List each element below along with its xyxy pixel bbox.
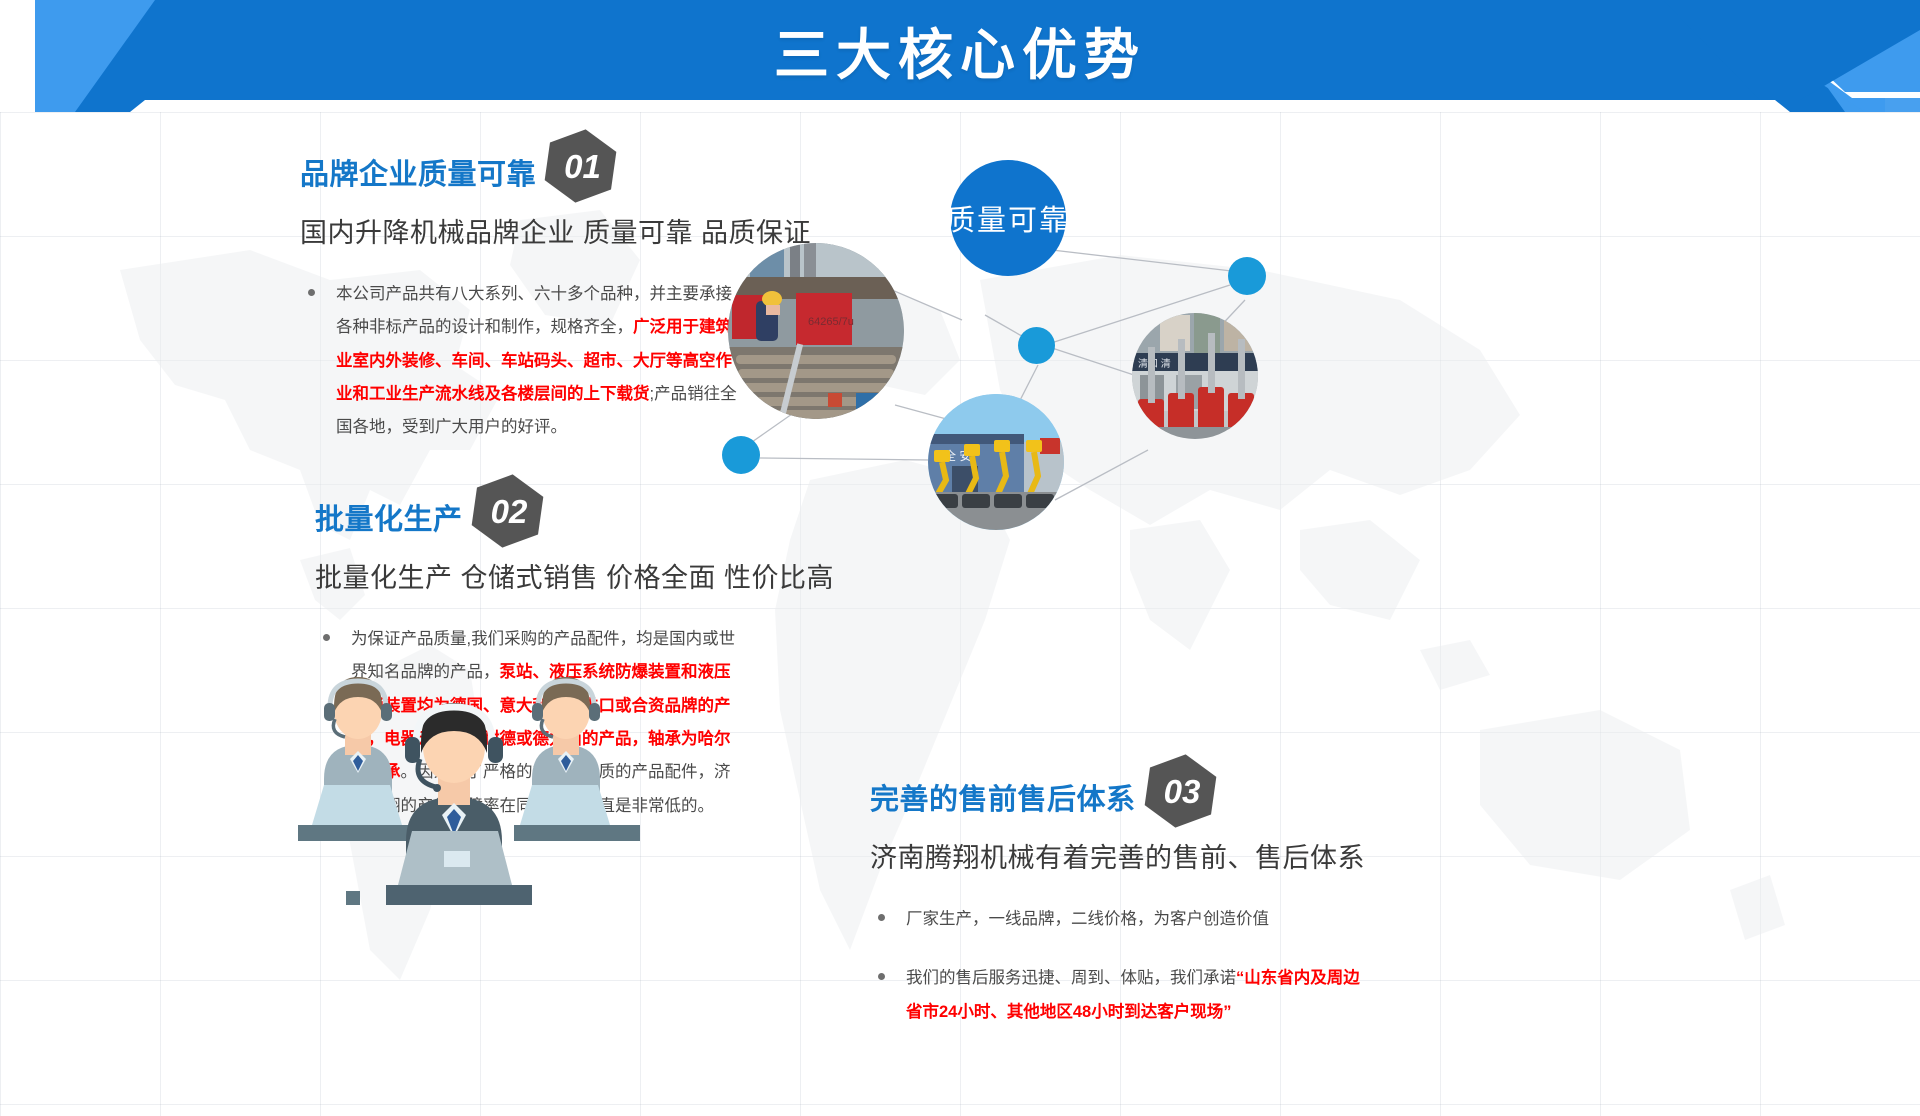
bullet-dot-icon xyxy=(323,634,330,641)
main-quality-node[interactable]: 质量可靠 xyxy=(950,160,1066,276)
node-center[interactable] xyxy=(1018,327,1055,364)
showroom-lifts-photo[interactable]: 清扣 清 xyxy=(1132,313,1258,439)
lift-yard-photo[interactable]: 全 安 xyxy=(928,394,1064,530)
node-upper-right[interactable] xyxy=(1228,257,1266,295)
feature-01-number: 01 xyxy=(546,129,619,205)
svg-text:64265/7u: 64265/7u xyxy=(808,316,854,328)
bullet-dot-icon xyxy=(878,914,885,921)
call-center-team xyxy=(290,655,650,905)
feature-02-number: 02 xyxy=(473,474,546,550)
bullet-dot-icon xyxy=(308,289,315,296)
bullet-text: 我们的售后服务迅捷、周到、体贴，我们承诺“山东省内及周边省市24小时、其他地区4… xyxy=(906,962,1370,1029)
bullet-item: 厂家生产，一线品牌，二线价格，为客户创造价值 xyxy=(870,903,1370,936)
bullet-item: 本公司产品共有八大系列、六十多个品种，并主要承接各种非标产品的设计和制作，规格齐… xyxy=(300,278,740,445)
text-segment: 我们的售后服务迅捷、周到、体贴，我们承诺 xyxy=(906,969,1236,987)
feature-02-header: 批量化生产 02 xyxy=(315,505,745,549)
bullet-dot-icon xyxy=(878,973,885,980)
agent-center xyxy=(386,703,532,905)
feature-01-bullets: 本公司产品共有八大系列、六十多个品种，并主要承接各种非标产品的设计和制作，规格齐… xyxy=(300,278,740,445)
feature-01-subtitle: 国内升降机械品牌企业 质量可靠 品质保证 xyxy=(300,211,740,250)
feature-02-title: 批量化生产 xyxy=(315,505,463,535)
header-ribbon: 三大核心优势 xyxy=(0,0,1920,112)
agent-right xyxy=(514,677,640,841)
feature-03-number-badge: 03 xyxy=(1144,753,1217,829)
feature-03-header: 完善的售前售后体系 03 xyxy=(870,785,1370,829)
feature-03-title: 完善的售前售后体系 xyxy=(870,785,1136,815)
feature-03-subtitle: 济南腾翔机械有着完善的售前、售后体系 xyxy=(870,836,1370,875)
bullet-item: 我们的售后服务迅捷、周到、体贴，我们承诺“山东省内及周边省市24小时、其他地区4… xyxy=(870,962,1370,1029)
bullet-text: 本公司产品共有八大系列、六十多个品种，并主要承接各种非标产品的设计和制作，规格齐… xyxy=(336,278,740,445)
feature-02-number-badge: 02 xyxy=(471,473,544,549)
feature-block-03: 完善的售前售后体系 03 济南腾翔机械有着完善的售前、售后体系 厂家生产，一线品… xyxy=(870,785,1370,1029)
feature-block-01: 品牌企业质量可靠 01 国内升降机械品牌企业 质量可靠 品质保证 本公司产品共有… xyxy=(300,160,740,445)
node-lower-left[interactable] xyxy=(722,436,760,474)
main-quality-node-label: 质量可靠 xyxy=(946,197,1070,239)
bullet-text: 厂家生产，一线品牌，二线价格，为客户创造价值 xyxy=(906,903,1370,936)
text-segment: 厂家生产，一线品牌，二线价格，为客户创造价值 xyxy=(906,910,1269,928)
feature-03-bullets: 厂家生产，一线品牌，二线价格，为客户创造价值 我们的售后服务迅捷、周到、体贴，我… xyxy=(870,903,1370,1029)
feature-01-number-badge: 01 xyxy=(544,128,617,204)
page-title: 三大核心优势 xyxy=(0,0,1920,100)
feature-02-subtitle: 批量化生产 仓储式销售 价格全面 性价比高 xyxy=(315,556,745,595)
factory-production-photo[interactable]: 64265/7u xyxy=(728,243,904,419)
feature-01-title: 品牌企业质量可靠 xyxy=(300,160,536,190)
feature-01-header: 品牌企业质量可靠 01 xyxy=(300,160,740,204)
feature-03-number: 03 xyxy=(1146,754,1219,830)
agent-left xyxy=(298,677,416,841)
